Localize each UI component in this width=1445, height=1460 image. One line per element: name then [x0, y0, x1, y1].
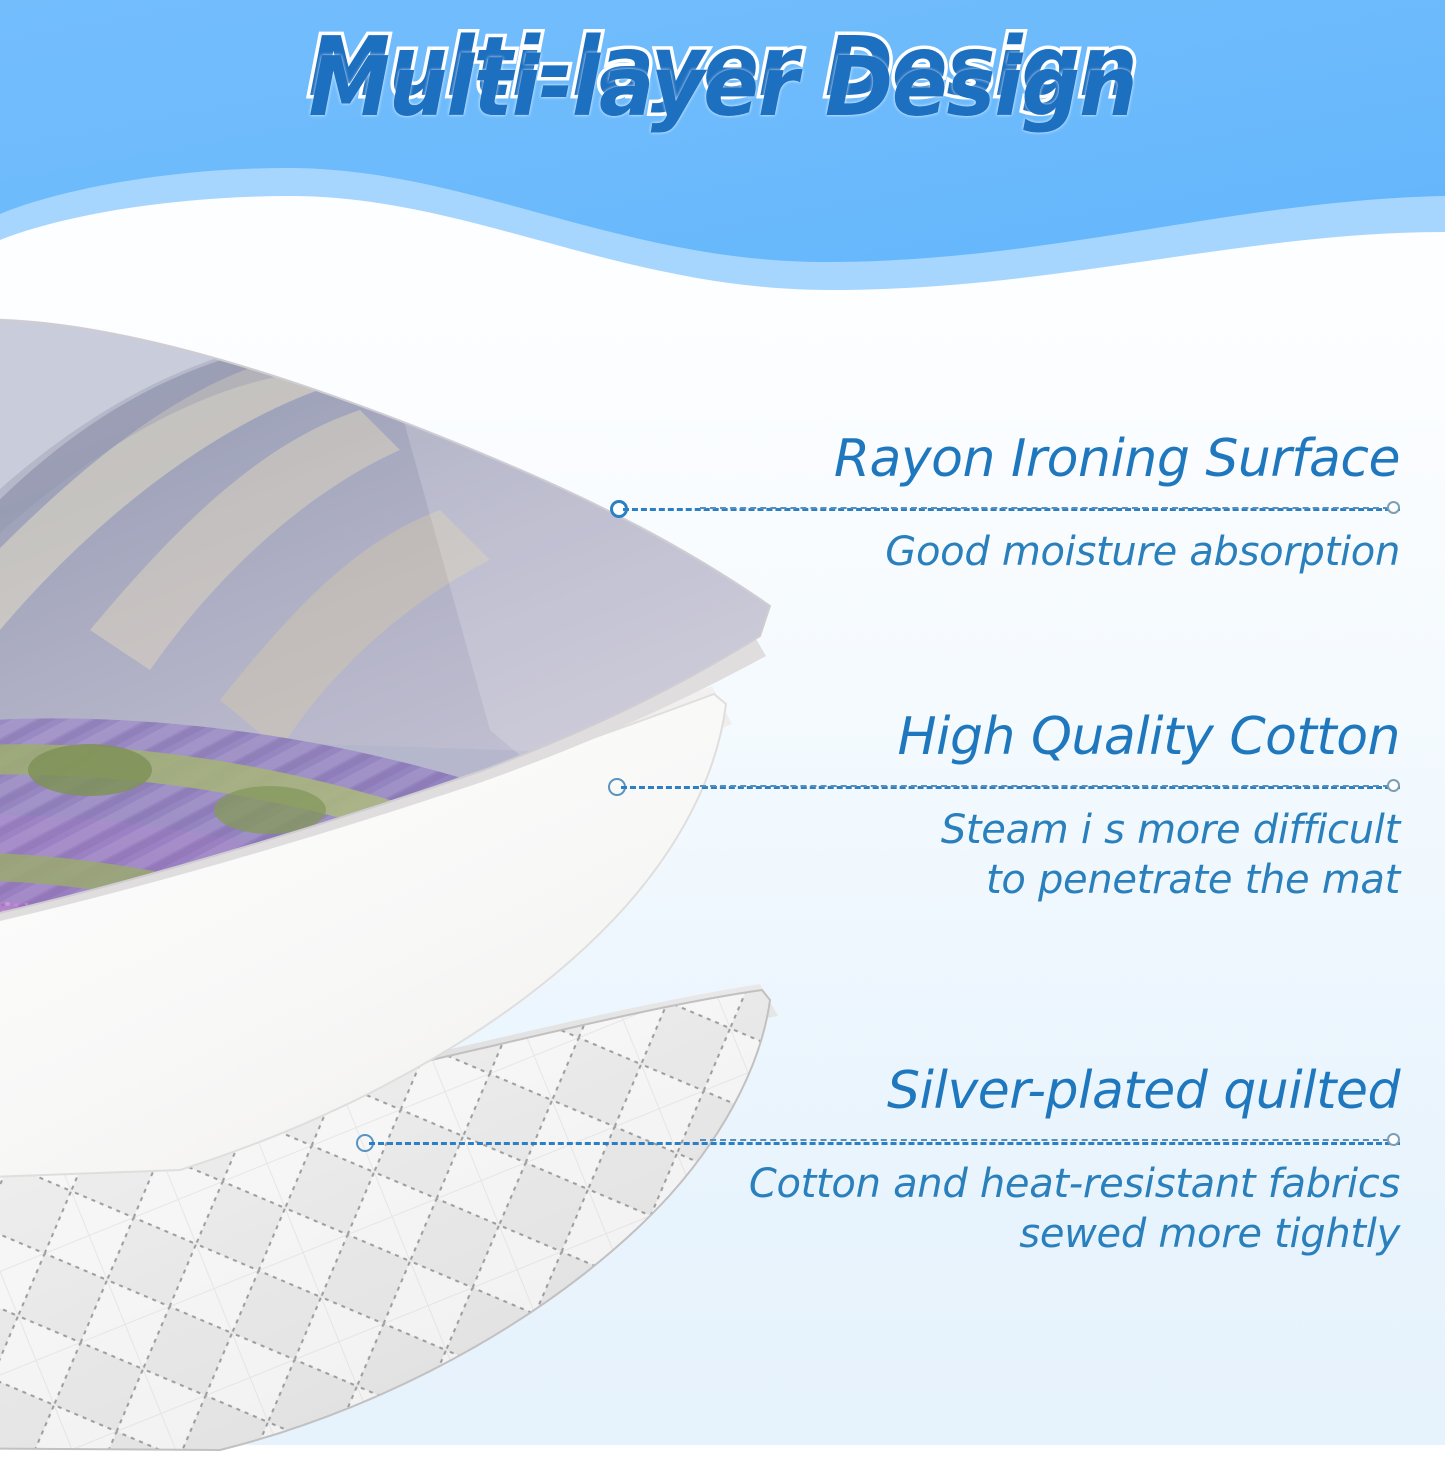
callout-silver-plated-quilted: Silver-plated quilted Cotton and heat-re… — [700, 1064, 1400, 1259]
callout-2-rule — [700, 775, 1400, 797]
callout-1-title: Rayon Ironing Surface — [700, 432, 1400, 487]
callout-1-subtitle: Good moisture absorption — [700, 527, 1400, 577]
callout-3-rule — [700, 1129, 1400, 1151]
page-title: Multi-layer Design Multi-layer Design — [0, 20, 1445, 115]
callout-high-quality-cotton: High Quality Cotton Steam i s more diffi… — [700, 710, 1400, 905]
callout-1-dashed-rule — [700, 507, 1389, 509]
page-title-fill: Multi-layer Design — [0, 40, 1445, 135]
callout-2-dashed-rule — [700, 785, 1389, 787]
callout-3-subtitle: Cotton and heat-resistant fabrics sewed … — [700, 1159, 1400, 1259]
product-layer-stack — [0, 300, 770, 1450]
callout-3-rule-endpoint — [1387, 1133, 1400, 1146]
callout-3-title: Silver-plated quilted — [700, 1064, 1400, 1119]
callout-1-rule — [700, 497, 1400, 519]
callout-3-dashed-rule — [700, 1139, 1389, 1141]
callout-2-rule-endpoint — [1387, 779, 1400, 792]
callout-2-subtitle: Steam i s more difficult to penetrate th… — [700, 805, 1400, 905]
callout-1-rule-endpoint — [1387, 501, 1400, 514]
callout-rayon-ironing-surface: Rayon Ironing Surface Good moisture abso… — [700, 432, 1400, 577]
callout-2-title: High Quality Cotton — [700, 710, 1400, 765]
